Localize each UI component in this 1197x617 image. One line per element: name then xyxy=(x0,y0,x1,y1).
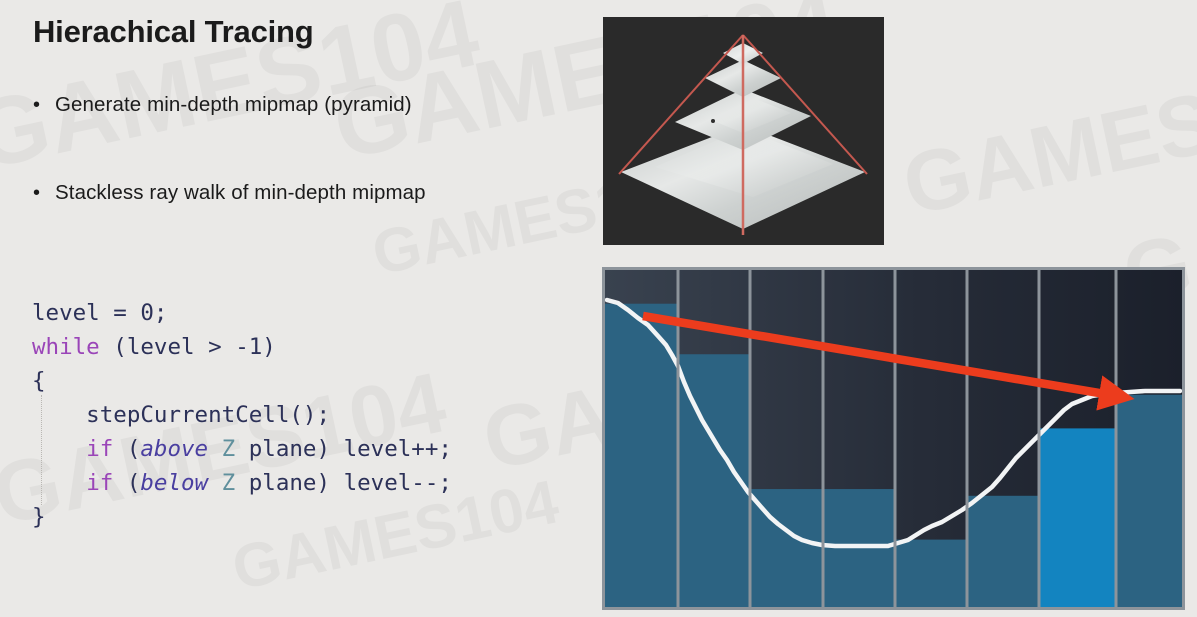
code-token: 0; xyxy=(140,300,167,326)
code-line: if (above Z plane) level++; xyxy=(32,432,452,466)
min-depth-heightfield-figure xyxy=(602,267,1185,610)
list-item: • Stackless ray walk of min-depth mipmap xyxy=(33,180,573,206)
code-token xyxy=(32,436,86,462)
code-token: Z xyxy=(222,470,236,496)
code-token: above xyxy=(140,436,208,462)
bullet-list: • Generate min-depth mipmap (pyramid) • … xyxy=(33,92,573,268)
code-line: while (level > -1) xyxy=(32,330,452,364)
min-depth-cell-bar xyxy=(895,540,967,607)
page-title: Hierachical Tracing xyxy=(33,14,314,50)
min-depth-cell-bar xyxy=(1116,395,1182,607)
code-token: plane) level++; xyxy=(235,436,452,462)
code-token: stepCurrentCell(); xyxy=(32,402,330,428)
code-token: plane) level--; xyxy=(235,470,452,496)
code-token: while xyxy=(32,334,100,360)
min-depth-mipmap-pyramid-figure xyxy=(603,17,884,245)
min-depth-cell-bar xyxy=(1039,428,1116,607)
code-token: } xyxy=(32,504,46,530)
slide-root: GAMES104 GAMES104 GAMES104 GAMES104 GAME… xyxy=(0,0,1197,617)
code-block: level = 0;while (level > -1){ stepCurren… xyxy=(32,296,452,534)
code-token: level xyxy=(32,300,100,326)
code-token: ( xyxy=(113,470,140,496)
code-line: if (below Z plane) level--; xyxy=(32,466,452,500)
code-line: stepCurrentCell(); xyxy=(32,398,452,432)
code-token: ( xyxy=(113,436,140,462)
code-token: if xyxy=(86,470,113,496)
code-token: Z xyxy=(222,436,236,462)
code-token xyxy=(208,470,222,496)
bullet-marker-icon: • xyxy=(33,180,55,206)
code-token: if xyxy=(86,436,113,462)
code-token xyxy=(208,436,222,462)
bullet-marker-icon: • xyxy=(33,92,55,118)
code-token: = xyxy=(100,300,141,326)
heightfield-ray-walk-chart xyxy=(605,270,1182,607)
code-line: } xyxy=(32,500,452,534)
pyramid-illustration xyxy=(603,17,884,245)
code-token: (level > -1) xyxy=(100,334,276,360)
code-line: { xyxy=(32,364,452,398)
code-token: below xyxy=(140,470,208,496)
bullet-text: Generate min-depth mipmap (pyramid) xyxy=(55,92,412,118)
list-item: • Generate min-depth mipmap (pyramid) xyxy=(33,92,573,118)
code-token xyxy=(32,470,86,496)
code-line: level = 0; xyxy=(32,296,452,330)
code-token: { xyxy=(32,368,46,394)
min-depth-cell-bar xyxy=(967,496,1039,607)
watermark: GAMES104 xyxy=(895,43,1197,235)
bullet-text: Stackless ray walk of min-depth mipmap xyxy=(55,180,426,206)
